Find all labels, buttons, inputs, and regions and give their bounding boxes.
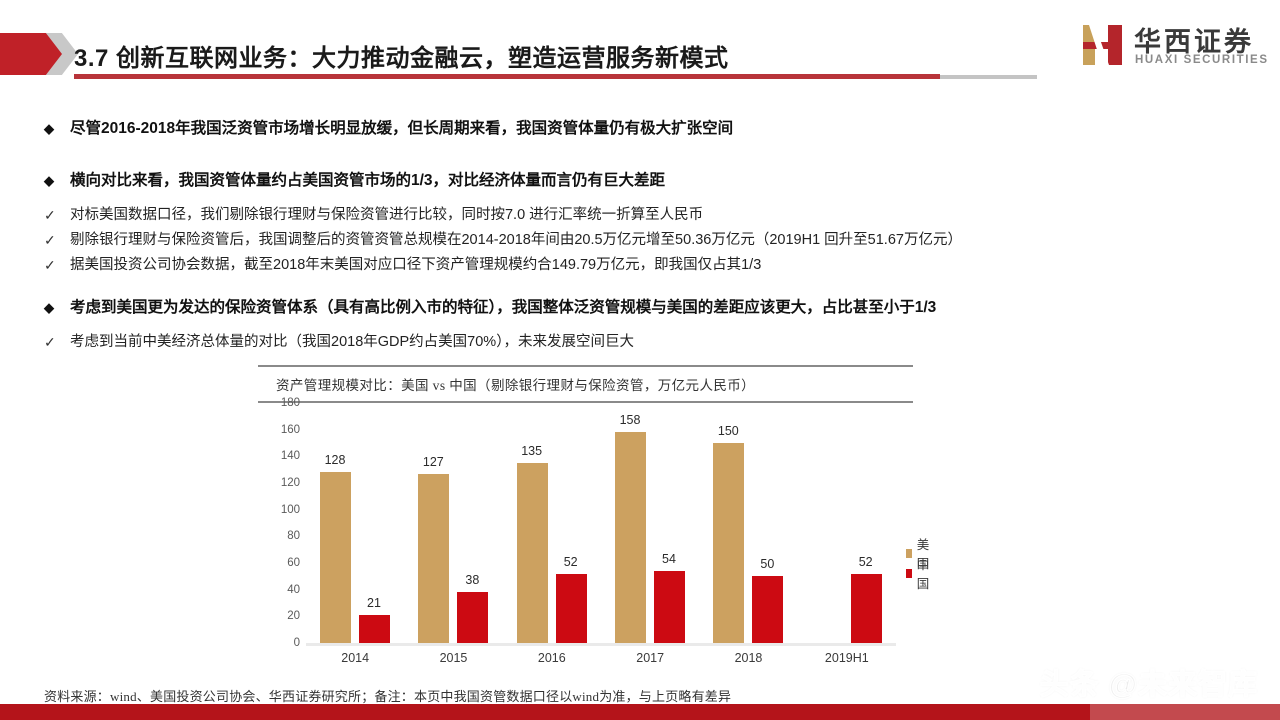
x-axis-tick: 2016 xyxy=(503,651,601,665)
bar-group: 12738 xyxy=(404,403,502,643)
x-axis-tick: 2017 xyxy=(601,651,699,665)
bar-us xyxy=(320,472,351,643)
legend-swatch-icon xyxy=(906,549,912,558)
y-axis-tick: 100 xyxy=(281,505,300,515)
x-axis-tick: 2014 xyxy=(306,651,404,665)
x-axis-baseline xyxy=(306,643,896,646)
bar-us xyxy=(517,463,548,643)
legend-label: 中国 xyxy=(917,554,933,592)
chart-title: 资产管理规模对比：美国 vs 中国（剔除银行理财与保险资管，万亿元人民币） xyxy=(276,374,755,394)
y-axis-tick: 140 xyxy=(281,451,300,461)
bar-value-label: 50 xyxy=(737,557,797,571)
bar-cn xyxy=(654,571,685,643)
bullet-item: ✓ 考虑到当前中美经济总体量的对比（我国2018年GDP约占美国70%），未来发… xyxy=(44,330,1244,355)
y-axis-tick: 180 xyxy=(281,398,300,408)
bullet-item: ✓ 对标美国数据口径，我们剔除银行理财与保险资管进行比较，同时按7.0 进行汇率… xyxy=(44,203,1244,228)
brand-name-en: HUAXI SECURITIES xyxy=(1135,54,1269,66)
bullet-text: 尽管2016-2018年我国泛资管市场增长明显放缓，但长周期来看，我国资管体量仍… xyxy=(70,116,733,142)
bar-value-label: 158 xyxy=(600,413,660,427)
bar-value-label: 38 xyxy=(442,573,502,587)
bullet-item: ✓ 剔除银行理财与保险资管后，我国调整后的资管资管总规模在2014-2018年间… xyxy=(44,228,1244,253)
bar-group: 13552 xyxy=(503,403,601,643)
legend-swatch-icon xyxy=(906,569,912,578)
y-axis-tick: 120 xyxy=(281,478,300,488)
huaxi-logo-icon xyxy=(1080,22,1126,68)
legend-item: 中国 xyxy=(906,563,933,583)
bullet-text: 考虑到美国更为发达的保险资管体系（具有高比例入市的特征），我国整体泛资管规模与美… xyxy=(70,295,936,321)
x-axis-tick: 2015 xyxy=(404,651,502,665)
bar-group: 52 xyxy=(798,403,896,643)
page-title: 3.7 创新互联网业务：大力推动金融云，塑造运营服务新模式 xyxy=(74,38,729,73)
bullet-text: 据美国投资公司协会数据，截至2018年末美国对应口径下资产管理规模约合149.7… xyxy=(70,253,761,278)
chart-top-divider xyxy=(258,365,913,367)
y-axis-tick: 0 xyxy=(294,638,300,648)
page-header: 3.7 创新互联网业务：大力推动金融云，塑造运营服务新模式 华西证券 HUAXI… xyxy=(0,0,1280,96)
y-axis-tick: 60 xyxy=(287,558,300,568)
bar-value-label: 21 xyxy=(344,596,404,610)
bullet-text: 对标美国数据口径，我们剔除银行理财与保险资管进行比较，同时按7.0 进行汇率统一… xyxy=(70,203,703,228)
x-axis-tick: 2019H1 xyxy=(798,651,896,665)
bar-value-label: 52 xyxy=(836,555,896,569)
x-axis-tick: 2018 xyxy=(699,651,797,665)
bar-cn xyxy=(457,592,488,643)
content-bullets: ◆ 尽管2016-2018年我国泛资管市场增长明显放缓，但长周期来看，我国资管体… xyxy=(44,116,1244,355)
chart-plot: 180160140120100806040200 128211273813552… xyxy=(258,403,913,675)
bar-group: 15050 xyxy=(699,403,797,643)
x-axis-labels: 201420152016201720182019H1 xyxy=(306,651,896,673)
source-note: 资料来源：wind、美国投资公司协会、华西证券研究所；备注：本页中我国资管数据口… xyxy=(44,686,731,705)
bar-cn xyxy=(359,615,390,643)
check-bullet-icon: ✓ xyxy=(44,203,70,228)
diamond-bullet-icon: ◆ xyxy=(44,168,70,194)
title-underline-gray xyxy=(940,75,1037,79)
bar-value-label: 128 xyxy=(305,453,365,467)
bar-value-label: 135 xyxy=(502,444,562,458)
footer-bar-accent xyxy=(1090,704,1280,720)
y-axis-tick: 160 xyxy=(281,425,300,435)
bullet-item: ✓ 据美国投资公司协会数据，截至2018年末美国对应口径下资产管理规模约合149… xyxy=(44,253,1244,278)
bar-group: 12821 xyxy=(306,403,404,643)
bar-value-label: 127 xyxy=(403,455,463,469)
bar-cn xyxy=(752,576,783,643)
check-bullet-icon: ✓ xyxy=(44,253,70,278)
bullet-item: ◆ 尽管2016-2018年我国泛资管市场增长明显放缓，但长周期来看，我国资管体… xyxy=(44,116,1244,142)
bullet-item: ◆ 考虑到美国更为发达的保险资管体系（具有高比例入市的特征），我国整体泛资管规模… xyxy=(44,295,1244,321)
bar-cn xyxy=(851,574,882,643)
chart-legend: 美国中国 xyxy=(906,543,933,583)
bullet-text: 横向对比来看，我国资管体量约占美国资管市场的1/3，对比经济体量而言仍有巨大差距 xyxy=(70,168,665,194)
asset-management-chart: 资产管理规模对比：美国 vs 中国（剔除银行理财与保险资管，万亿元人民币） 18… xyxy=(258,365,913,675)
footer-bar xyxy=(0,704,1090,720)
check-bullet-icon: ✓ xyxy=(44,228,70,253)
y-axis-tick: 20 xyxy=(287,611,300,621)
bar-us xyxy=(713,443,744,643)
y-axis-labels: 180160140120100806040200 xyxy=(258,403,304,650)
y-axis-tick: 80 xyxy=(287,531,300,541)
bar-value-label: 54 xyxy=(639,552,699,566)
bar-value-label: 52 xyxy=(541,555,601,569)
bar-us xyxy=(615,432,646,643)
bullet-text: 剔除银行理财与保险资管后，我国调整后的资管资管总规模在2014-2018年间由2… xyxy=(70,228,962,253)
chart-bars-area: 128211273813552158541505052 xyxy=(306,403,896,643)
bar-cn xyxy=(556,574,587,643)
title-underline-red xyxy=(74,74,940,79)
watermark: 头条 @未来智库 xyxy=(1040,661,1258,703)
bar-value-label: 150 xyxy=(698,424,758,438)
y-axis-tick: 40 xyxy=(287,585,300,595)
diamond-bullet-icon: ◆ xyxy=(44,295,70,321)
bar-us xyxy=(418,474,449,643)
bullet-text: 考虑到当前中美经济总体量的对比（我国2018年GDP约占美国70%），未来发展空… xyxy=(70,330,634,355)
bar-group: 15854 xyxy=(601,403,699,643)
bullet-item: ◆ 横向对比来看，我国资管体量约占美国资管市场的1/3，对比经济体量而言仍有巨大… xyxy=(44,168,1244,194)
diamond-bullet-icon: ◆ xyxy=(44,116,70,142)
check-bullet-icon: ✓ xyxy=(44,330,70,355)
brand-logo: 华西证券 HUAXI SECURITIES xyxy=(1080,20,1260,76)
